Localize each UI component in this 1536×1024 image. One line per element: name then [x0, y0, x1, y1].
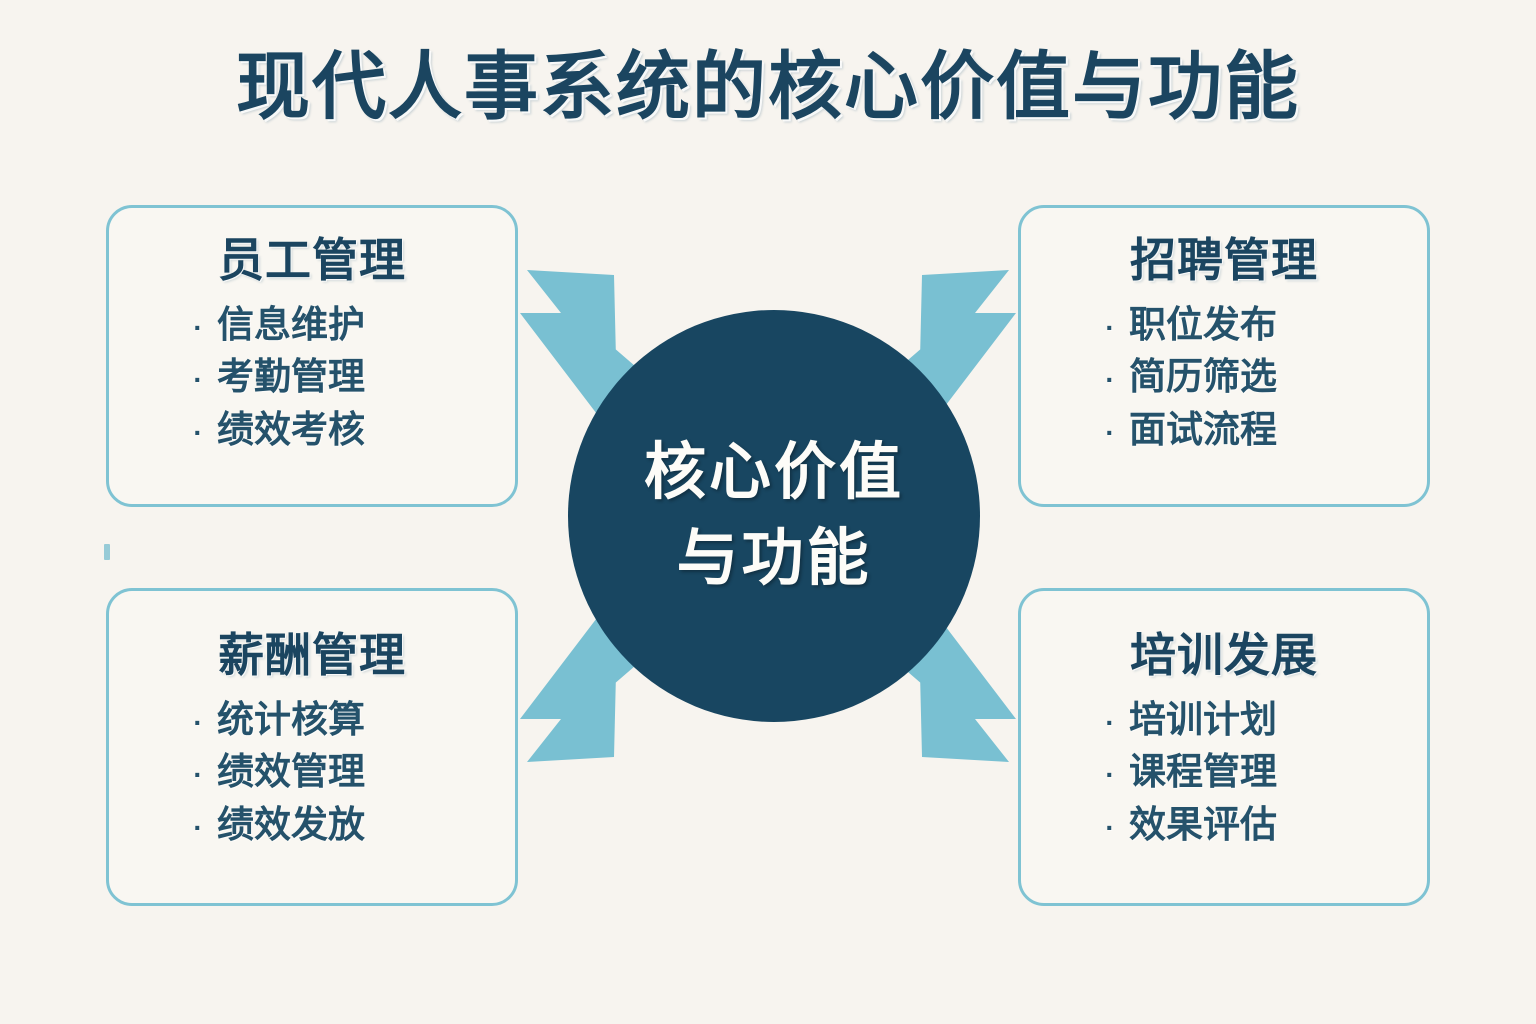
list-item: · 职位发布 [1101, 299, 1427, 352]
list-item: · 信息维护 [189, 299, 515, 352]
bullet-dot-icon: · [189, 808, 207, 848]
bullet-dot-icon: · [1101, 413, 1119, 453]
list-item: · 绩效管理 [189, 746, 515, 799]
list-item: · 统计核算 [189, 694, 515, 747]
list-item: · 课程管理 [1101, 746, 1427, 799]
bullet-dot-icon: · [1101, 755, 1119, 795]
card-title-payroll-management: 薪酬管理 [109, 629, 515, 682]
card-recruitment-management[interactable]: 招聘管理 · 职位发布 · 简历筛选 · 面试流程 [1018, 205, 1430, 507]
bullet-dot-icon: · [1101, 808, 1119, 848]
list-item: · 效果评估 [1101, 799, 1427, 852]
card-title-recruitment-management: 招聘管理 [1021, 234, 1427, 287]
bullet-label: 培训计划 [1119, 694, 1277, 747]
bullet-label: 信息维护 [207, 299, 365, 352]
bullet-label: 绩效发放 [207, 799, 365, 852]
bullet-label: 考勤管理 [207, 351, 365, 404]
diagram-canvas: 现代人事系统的核心价值与功能 员工管理 · 信息维护 · [0, 0, 1536, 1024]
card-title-employee-management: 员工管理 [109, 234, 515, 287]
bullet-list-employee-management: · 信息维护 · 考勤管理 · 绩效考核 [109, 299, 515, 457]
bullet-label: 课程管理 [1119, 746, 1277, 799]
bullet-dot-icon: · [1101, 360, 1119, 400]
bullet-dot-icon: · [189, 755, 207, 795]
center-core-node[interactable]: 核心价值 与功能 [568, 310, 980, 722]
bullet-label: 简历筛选 [1119, 351, 1277, 404]
bullet-list-payroll-management: · 统计核算 · 绩效管理 · 绩效发放 [109, 694, 515, 852]
bullet-label: 统计核算 [207, 694, 365, 747]
bullet-label: 职位发布 [1119, 299, 1277, 352]
bullet-list-recruitment-management: · 职位发布 · 简历筛选 · 面试流程 [1021, 299, 1427, 457]
list-item: · 培训计划 [1101, 694, 1427, 747]
card-employee-management[interactable]: 员工管理 · 信息维护 · 考勤管理 · 绩效考核 [106, 205, 518, 507]
center-label-line-2: 与功能 [676, 516, 871, 602]
bullet-dot-icon: · [189, 703, 207, 743]
bullet-label: 面试流程 [1119, 404, 1277, 457]
bullet-dot-icon: · [189, 308, 207, 348]
bullet-dot-icon: · [1101, 308, 1119, 348]
card-payroll-management[interactable]: 薪酬管理 · 统计核算 · 绩效管理 · 绩效发放 [106, 588, 518, 906]
card-title-training-development: 培训发展 [1021, 629, 1427, 682]
list-item: · 绩效考核 [189, 404, 515, 457]
artifact-mark [104, 544, 110, 560]
bullet-label: 效果评估 [1119, 799, 1277, 852]
list-item: · 考勤管理 [189, 351, 515, 404]
list-item: · 绩效发放 [189, 799, 515, 852]
page-title: 现代人事系统的核心价值与功能 [0, 48, 1536, 126]
card-training-development[interactable]: 培训发展 · 培训计划 · 课程管理 · 效果评估 [1018, 588, 1430, 906]
bullet-dot-icon: · [1101, 703, 1119, 743]
list-item: · 简历筛选 [1101, 351, 1427, 404]
bullet-list-training-development: · 培训计划 · 课程管理 · 效果评估 [1021, 694, 1427, 852]
bullet-dot-icon: · [189, 360, 207, 400]
bullet-dot-icon: · [189, 413, 207, 453]
list-item: · 面试流程 [1101, 404, 1427, 457]
bullet-label: 绩效考核 [207, 404, 365, 457]
center-label-line-1: 核心价值 [644, 430, 904, 516]
bullet-label: 绩效管理 [207, 746, 365, 799]
